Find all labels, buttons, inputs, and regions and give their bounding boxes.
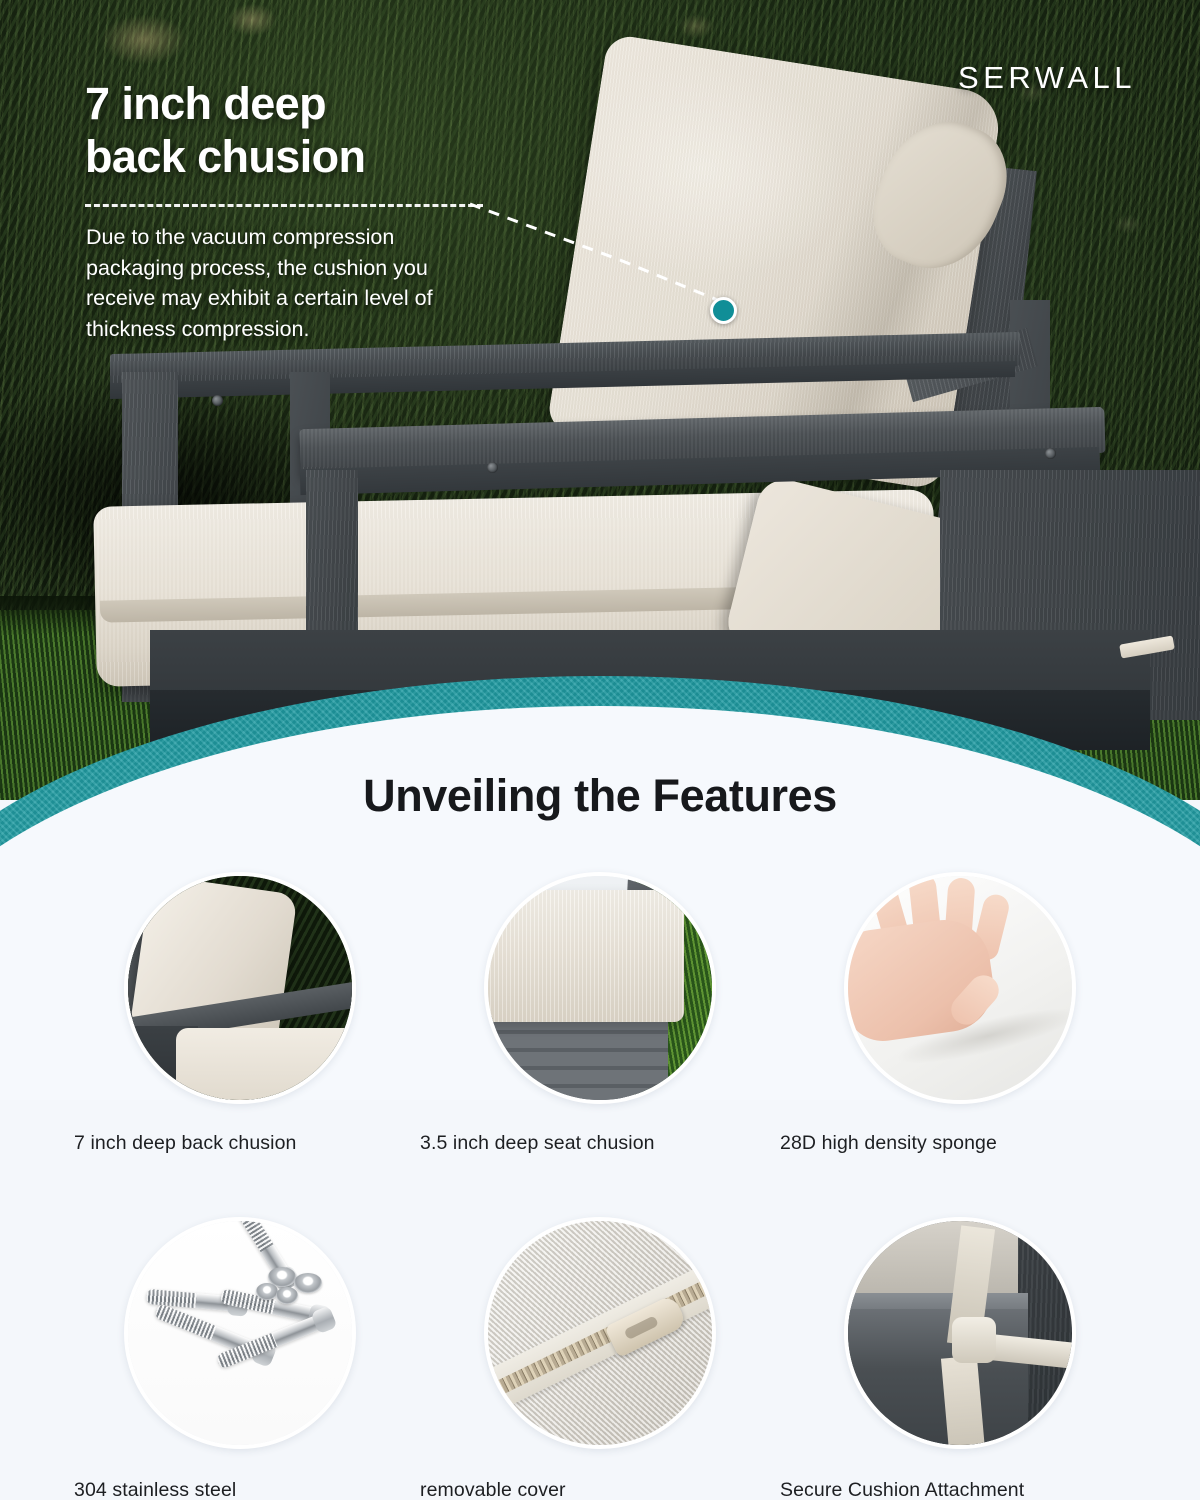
hero-subcopy: Due to the vacuum compression packaging … <box>86 222 566 345</box>
logo-text: SERWALL <box>958 60 1136 95</box>
callout-dot-icon <box>710 297 737 324</box>
features-grid: 7 inch deep back chusion 3.5 inch deep s… <box>60 872 1140 1500</box>
serwall-logo: SERWALL <box>958 60 1136 96</box>
feature-caption: 3.5 inch deep seat chusion <box>420 1132 655 1155</box>
feature-item: 28D high density sponge <box>780 872 1140 1155</box>
feature-item: 7 inch deep back chusion <box>60 872 420 1155</box>
feature-caption: 304 stainless steel <box>74 1479 236 1500</box>
chair-screw <box>212 395 223 406</box>
feature-image-tie-strap <box>844 1217 1076 1449</box>
feature-item: 304 stainless steel <box>60 1217 420 1500</box>
chair-screw <box>1045 448 1056 459</box>
feature-item: 3.5 inch deep seat chusion <box>420 872 780 1155</box>
feature-caption: 28D high density sponge <box>780 1132 997 1155</box>
hero-headline: 7 inch deep back chusion <box>85 78 645 183</box>
feature-caption: Secure Cushion Attachment <box>780 1479 1024 1500</box>
feature-item: Secure Cushion Attachment <box>780 1217 1140 1500</box>
headline-dashed-rule <box>85 204 483 207</box>
chair-screw <box>487 462 498 473</box>
product-infographic-page: SERWALL 7 inch deep back chusion Due to … <box>0 0 1200 1500</box>
feature-image-stainless-hardware <box>124 1217 356 1449</box>
feature-image-seat-cushion <box>484 872 716 1104</box>
feature-image-zipper <box>484 1217 716 1449</box>
feature-image-back-cushion <box>124 872 356 1104</box>
feature-item: removable cover <box>420 1217 780 1500</box>
feature-image-sponge <box>844 872 1076 1104</box>
features-section-title: Unveiling the Features <box>0 770 1200 822</box>
feature-caption: removable cover <box>420 1479 566 1500</box>
feature-caption: 7 inch deep back chusion <box>74 1132 296 1155</box>
